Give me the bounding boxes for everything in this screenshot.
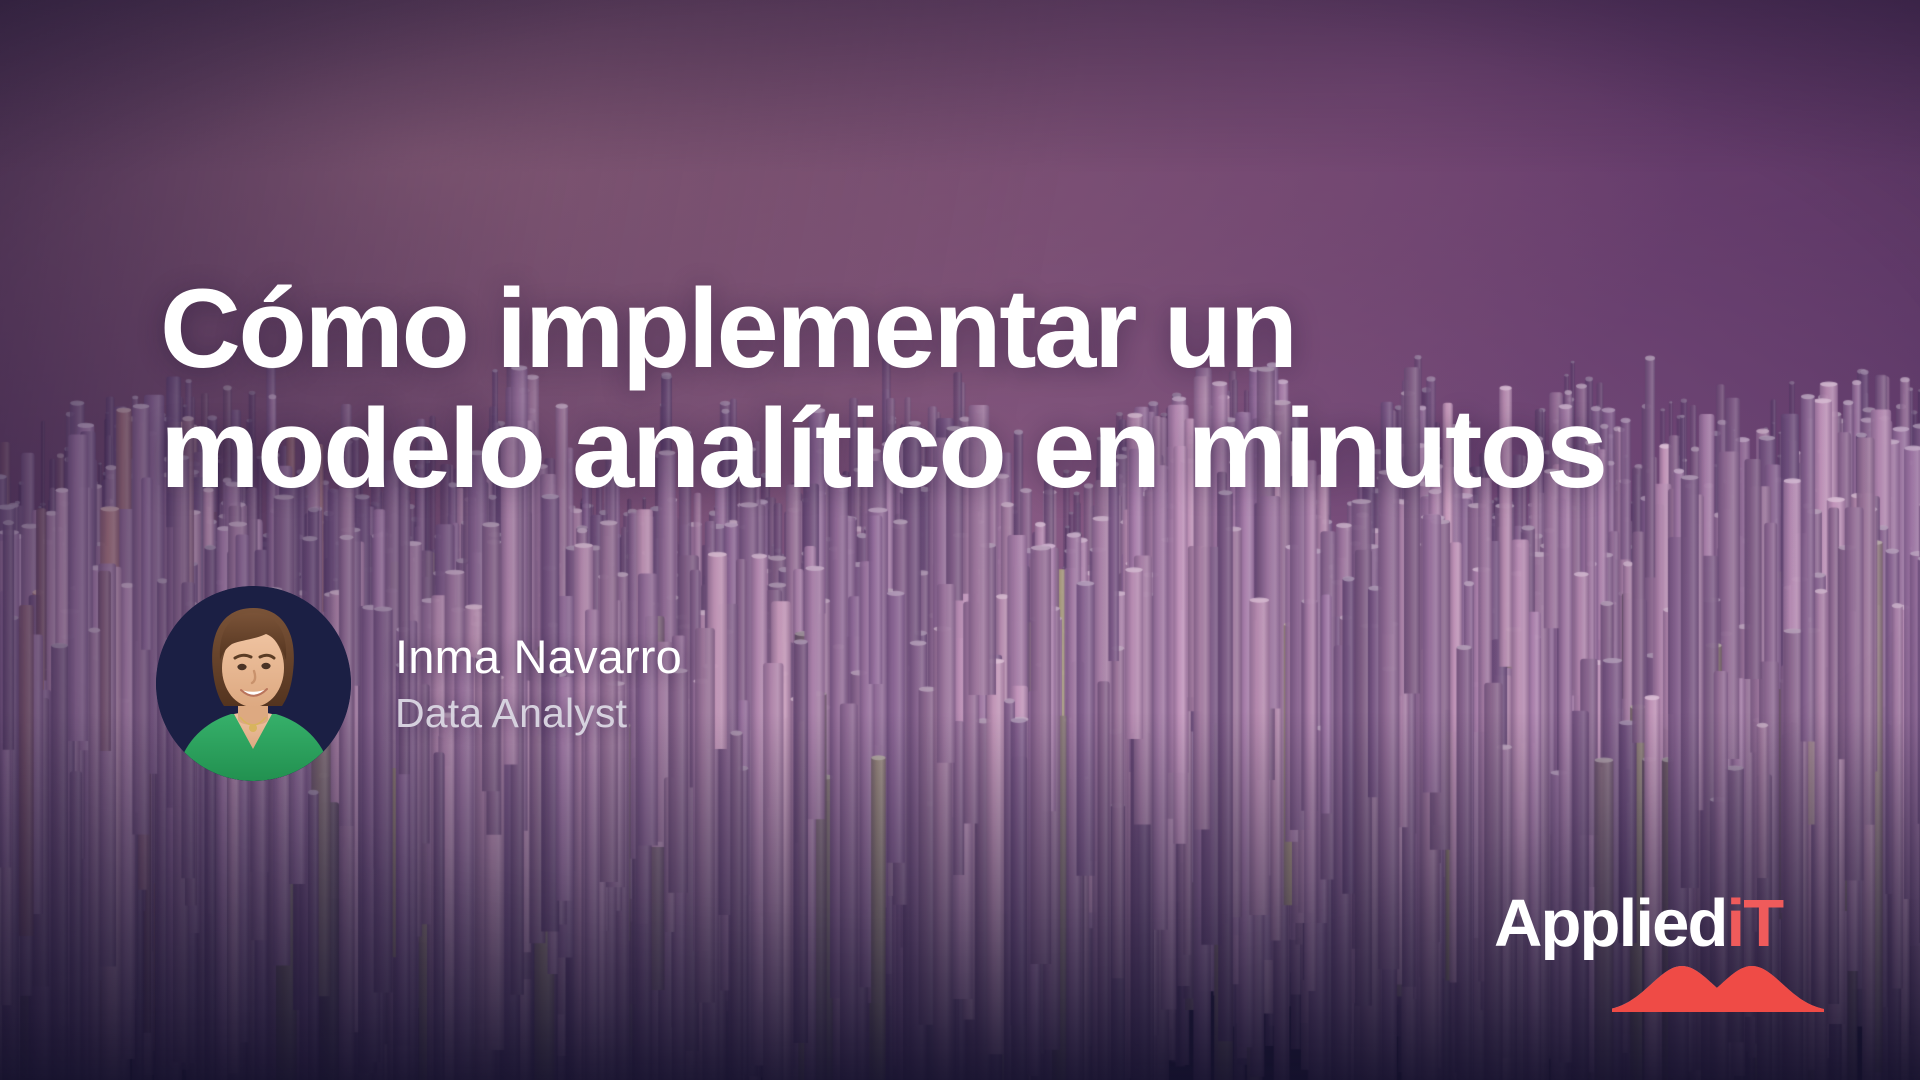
speaker-block: Inma Navarro Data Analyst bbox=[156, 586, 682, 781]
logo-text-primary: Applied bbox=[1494, 886, 1727, 961]
title-line-1: Cómo implementar un bbox=[160, 272, 1780, 386]
logo-wordmark: AppliediT bbox=[1494, 890, 1782, 957]
speaker-name: Inma Navarro bbox=[395, 630, 682, 684]
speaker-text: Inma Navarro Data Analyst bbox=[395, 630, 682, 737]
speaker-role: Data Analyst bbox=[395, 690, 682, 737]
appliedit-logo: AppliediT bbox=[1494, 890, 1824, 1020]
logo-text-accent: iT bbox=[1727, 886, 1783, 961]
avatar bbox=[156, 586, 351, 781]
title-line-2: modelo analítico en minutos bbox=[160, 392, 1780, 506]
webinar-title-slide: Cómo implementar un modelo analítico en … bbox=[0, 0, 1920, 1080]
page-title: Cómo implementar un modelo analítico en … bbox=[160, 272, 1780, 506]
logo-distribution-curves-icon bbox=[1612, 958, 1824, 1014]
slide-content: Cómo implementar un modelo analítico en … bbox=[0, 0, 1920, 1080]
